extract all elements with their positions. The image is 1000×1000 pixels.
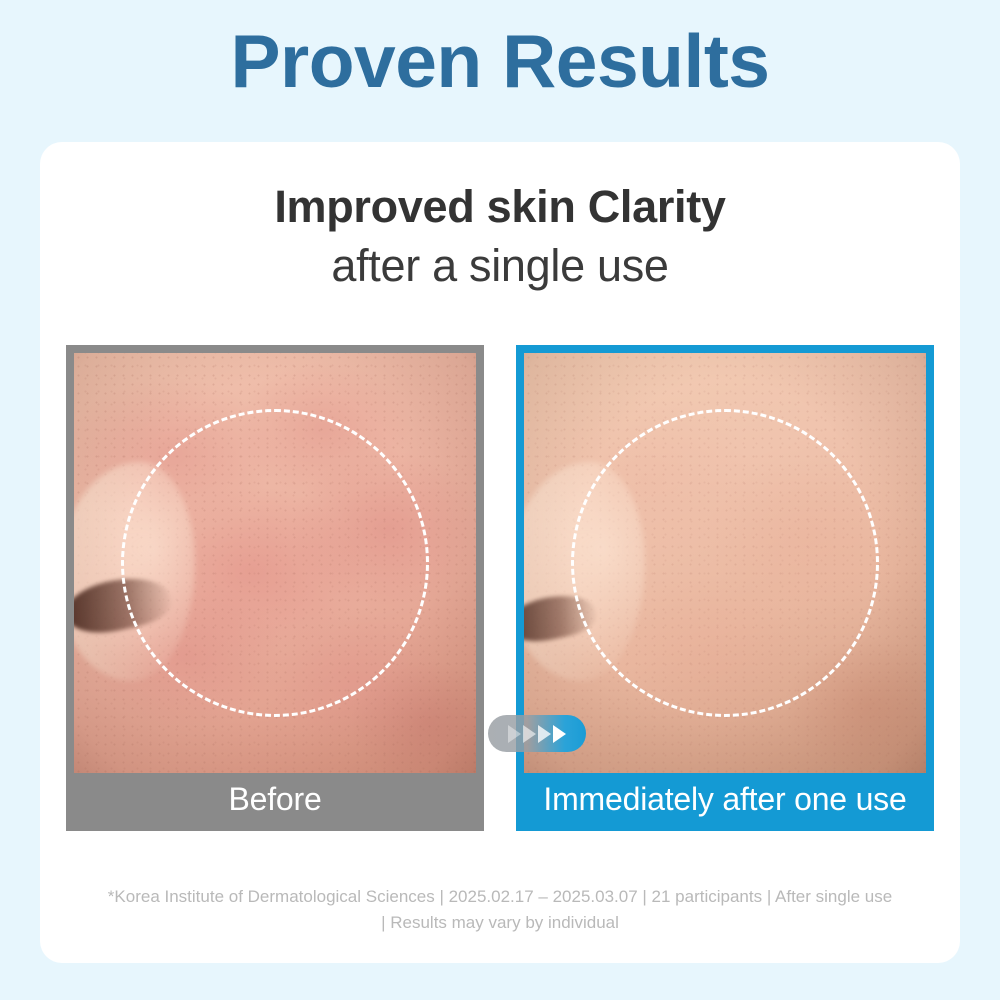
- page-title: Proven Results: [0, 22, 1000, 101]
- headline-line-1: Improved skin Clarity: [40, 178, 960, 236]
- chevron-right-icon: [508, 725, 521, 743]
- before-panel: Before: [66, 345, 484, 831]
- footnote-line-1: *Korea Institute of Dermatological Scien…: [40, 884, 960, 910]
- chevron-right-icon: [538, 725, 551, 743]
- after-panel: Immediately after one use: [516, 345, 934, 831]
- headline-line-2: after a single use: [40, 236, 960, 295]
- triple-chevron-right-icon: [488, 715, 586, 752]
- before-caption: Before: [66, 773, 484, 831]
- chevron-right-icon: [523, 725, 536, 743]
- study-footnote: *Korea Institute of Dermatological Scien…: [40, 884, 960, 937]
- results-card: Improved skin Clarity after a single use…: [40, 142, 960, 963]
- after-caption: Immediately after one use: [516, 773, 934, 831]
- marketing-comparison-page: Proven Results Improved skin Clarity aft…: [0, 0, 1000, 1000]
- card-headline: Improved skin Clarity after a single use: [40, 178, 960, 295]
- after-highlight-circle-icon: [571, 409, 879, 717]
- after-photo: [524, 353, 926, 773]
- footnote-line-2: | Results may vary by individual: [40, 910, 960, 936]
- before-highlight-circle-icon: [121, 409, 429, 717]
- chevron-right-icon: [553, 725, 566, 743]
- before-photo: [74, 353, 476, 773]
- before-after-comparison: Before Immediately after one use: [66, 345, 934, 831]
